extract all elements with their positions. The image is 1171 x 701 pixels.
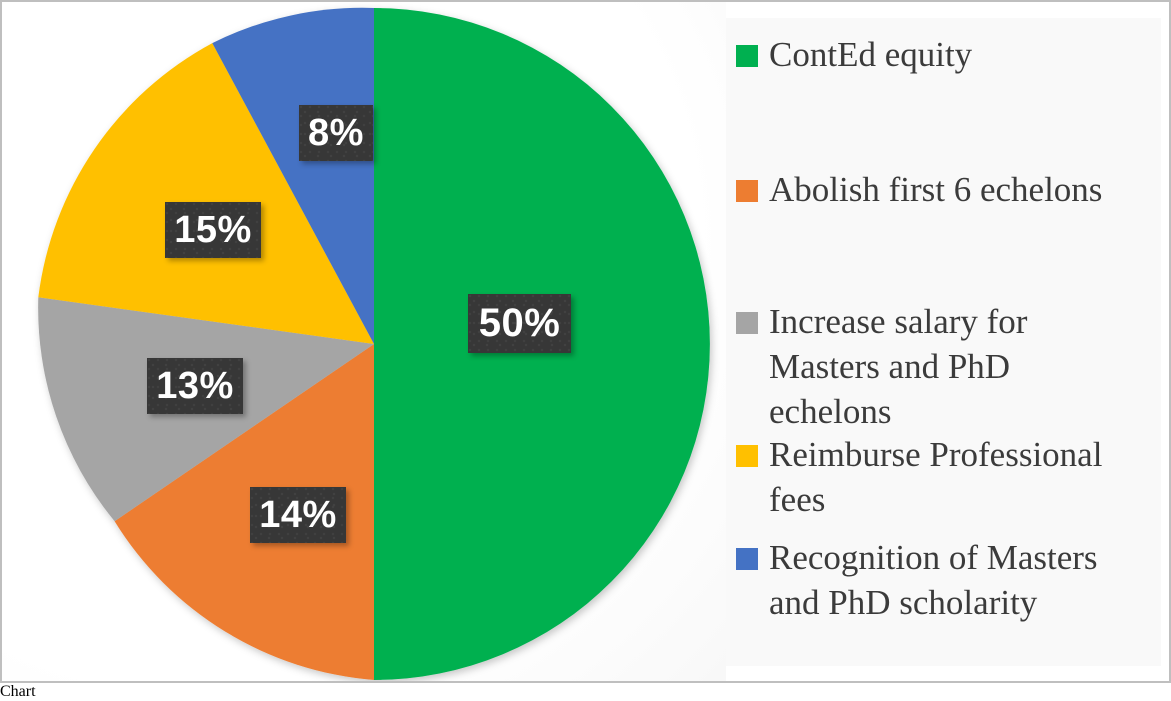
legend-item-label: Increase salary for Masters and PhD eche… bbox=[769, 299, 1076, 434]
legend-item-increase-salary[interactable]: Increase salary for Masters and PhD eche… bbox=[736, 299, 1076, 430]
data-label-abolish-echelons: 14% bbox=[250, 487, 346, 543]
data-label-value: 14% bbox=[259, 494, 337, 537]
chart-legend: ContEd equity Abolish first 6 echelons I… bbox=[726, 18, 1161, 666]
legend-swatch-icon bbox=[736, 445, 758, 467]
legend-item-label: Abolish first 6 echelons bbox=[769, 167, 1102, 212]
legend-item-abolish-echelons[interactable]: Abolish first 6 echelons bbox=[736, 167, 1155, 297]
legend-swatch-icon bbox=[736, 548, 758, 570]
chart-frame: 50% 14% 13% 15% 8% ContEd equity Abolish… bbox=[0, 0, 1171, 683]
legend-item-reimburse-fees[interactable]: Reimburse Professional fees bbox=[736, 432, 1156, 533]
legend-item-recognition-scholarity[interactable]: Recognition of Masters and PhD scholarit… bbox=[736, 535, 1156, 645]
legend-item-label: Reimburse Professional fees bbox=[769, 432, 1156, 522]
legend-item-label: Recognition of Masters and PhD scholarit… bbox=[769, 535, 1156, 625]
data-label-value: 15% bbox=[174, 209, 252, 252]
pie-plot-area: 50% 14% 13% 15% 8% bbox=[2, 2, 726, 683]
data-label-value: 13% bbox=[156, 365, 234, 408]
legend-item-label: ContEd equity bbox=[769, 32, 972, 77]
data-label-reimburse-fees: 15% bbox=[165, 202, 261, 258]
data-label-value: 8% bbox=[308, 112, 364, 155]
legend-swatch-icon bbox=[736, 45, 758, 67]
legend-swatch-icon bbox=[736, 312, 758, 334]
data-label-recognition-scholarity: 8% bbox=[299, 105, 373, 161]
legend-swatch-icon bbox=[736, 180, 758, 202]
data-label-increase-salary: 13% bbox=[147, 358, 243, 414]
data-label-value: 50% bbox=[479, 301, 561, 346]
legend-item-conted-equity[interactable]: ContEd equity bbox=[736, 32, 1155, 165]
data-label-conted-equity: 50% bbox=[468, 294, 571, 353]
